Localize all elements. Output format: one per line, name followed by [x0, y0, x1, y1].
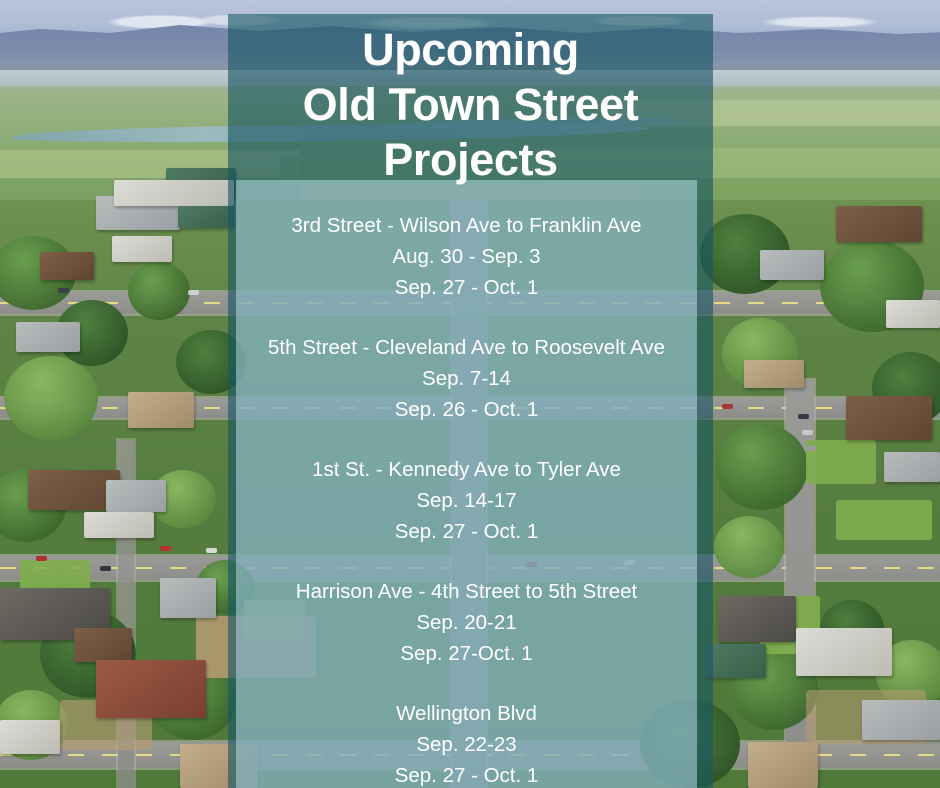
project-item: 3rd Street - Wilson Ave to Franklin Ave …	[236, 210, 697, 303]
project-date: Sep. 7-14	[236, 363, 697, 394]
car	[806, 446, 817, 451]
project-date: Sep. 20-21	[236, 607, 697, 638]
tree-cluster	[128, 262, 190, 320]
project-date: Sep. 14-17	[236, 485, 697, 516]
poster-content: Upcoming Old Town Street Projects 3rd St…	[228, 14, 713, 788]
project-list: 3rd Street - Wilson Ave to Franklin Ave …	[236, 194, 697, 788]
car	[802, 430, 813, 435]
title-line-1: Upcoming	[228, 22, 713, 77]
building	[706, 644, 766, 678]
building	[836, 206, 922, 242]
tree-cluster	[716, 424, 808, 510]
car	[798, 414, 809, 419]
building	[796, 628, 892, 676]
building	[84, 512, 154, 538]
project-item: Harrison Ave - 4th Street to 5th Street …	[236, 576, 697, 669]
car	[722, 404, 733, 409]
car	[188, 290, 199, 295]
project-date: Sep. 22-23	[236, 729, 697, 760]
project-name: Harrison Ave - 4th Street to 5th Street	[236, 576, 697, 607]
car	[58, 288, 69, 293]
project-name: 5th Street - Cleveland Ave to Roosevelt …	[236, 332, 697, 363]
project-name: 3rd Street - Wilson Ave to Franklin Ave	[236, 210, 697, 241]
building	[748, 742, 818, 788]
project-date: Sep. 26 - Oct. 1	[236, 394, 697, 425]
commercial-building	[114, 180, 234, 206]
title-line-3: Projects	[228, 132, 713, 187]
building	[96, 660, 206, 718]
building	[886, 300, 940, 328]
building	[74, 628, 132, 662]
car	[160, 546, 171, 551]
building	[112, 236, 172, 262]
project-date: Sep. 27 - Oct. 1	[236, 272, 697, 303]
building	[846, 396, 932, 440]
project-name: 1st St. - Kennedy Ave to Tyler Ave	[236, 454, 697, 485]
project-item: 5th Street - Cleveland Ave to Roosevelt …	[236, 332, 697, 425]
project-item: 1st St. - Kennedy Ave to Tyler Ave Sep. …	[236, 454, 697, 547]
project-date: Sep. 27 - Oct. 1	[236, 760, 697, 788]
building	[160, 578, 216, 618]
project-name: Wellington Blvd	[236, 698, 697, 729]
project-date: Sep. 27 - Oct. 1	[236, 516, 697, 547]
car	[36, 556, 47, 561]
building	[862, 700, 940, 740]
car	[100, 566, 111, 571]
building	[760, 250, 824, 280]
page-title: Upcoming Old Town Street Projects	[228, 22, 713, 187]
building	[128, 392, 194, 428]
building	[884, 452, 940, 482]
building	[16, 322, 80, 352]
project-date: Sep. 27-Oct. 1	[236, 638, 697, 669]
building	[106, 480, 166, 512]
building	[40, 252, 94, 280]
commercial-building	[178, 206, 234, 228]
tree-cluster	[4, 356, 98, 440]
title-line-2: Old Town Street	[228, 77, 713, 132]
building	[0, 720, 60, 754]
tree-cluster	[714, 516, 784, 578]
project-item: Wellington Blvd Sep. 22-23 Sep. 27 - Oct…	[236, 698, 697, 788]
building	[718, 596, 796, 642]
project-date: Aug. 30 - Sep. 3	[236, 241, 697, 272]
street-projects-poster: Upcoming Old Town Street Projects 3rd St…	[0, 0, 940, 788]
lawn	[836, 500, 932, 540]
building	[744, 360, 804, 388]
car	[206, 548, 217, 553]
